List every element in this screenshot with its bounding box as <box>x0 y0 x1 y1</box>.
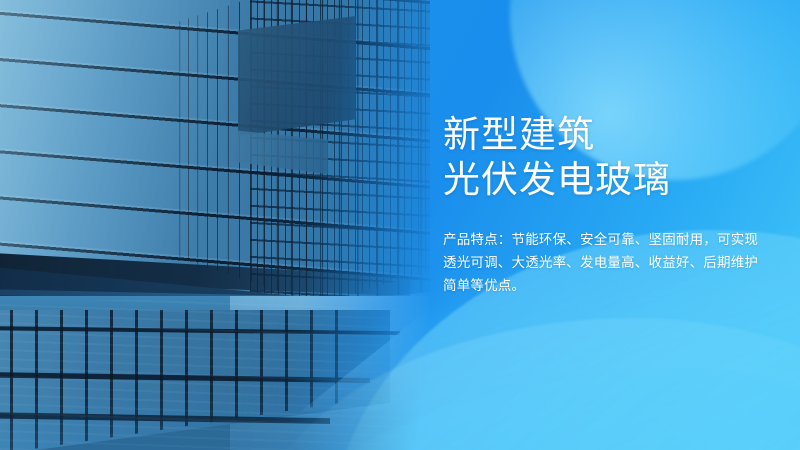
promo-slide: 新型建筑 光伏发电玻璃 产品特点：节能环保、安全可靠、坚固耐用，可实现透光可调、… <box>0 0 800 450</box>
photo-bottom-fade <box>0 390 430 450</box>
text-block: 新型建筑 光伏发电玻璃 产品特点：节能环保、安全可靠、坚固耐用，可实现透光可调、… <box>443 112 773 297</box>
facade-setback-upper <box>238 16 356 136</box>
glass-curtain-wall-building-photo <box>0 0 430 450</box>
headline-line-1: 新型建筑 <box>443 112 773 157</box>
headline-line-2: 光伏发电玻璃 <box>443 157 773 202</box>
product-features-paragraph: 产品特点：节能环保、安全可靠、坚固耐用，可实现透光可调、大透光率、发电量高、收益… <box>443 228 765 297</box>
